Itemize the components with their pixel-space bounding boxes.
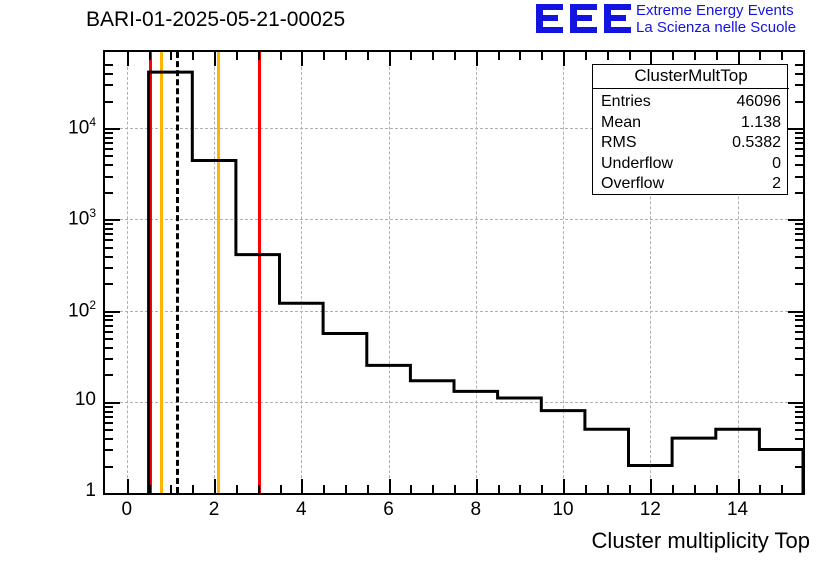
x-minor-tick <box>170 485 172 493</box>
x-minor-tick <box>803 485 805 493</box>
stats-row-value: 2 <box>772 174 781 195</box>
y-major-tick-right <box>788 128 803 130</box>
stats-row-key: RMS <box>601 133 637 154</box>
x-major-tick <box>738 479 740 493</box>
x-minor-tick-top <box>367 52 369 60</box>
y-tick-label: 10 <box>36 389 96 411</box>
y-minor-tick <box>105 406 113 408</box>
x-minor-tick <box>541 485 543 493</box>
x-minor-tick <box>345 485 347 493</box>
y-minor-tick-right <box>795 137 803 139</box>
eee-logo-text: Extreme Energy Events La Scienza nelle S… <box>636 2 796 36</box>
x-minor-tick <box>629 485 631 493</box>
x-minor-tick-top <box>672 52 674 60</box>
y-tick-label: 102 <box>36 298 96 322</box>
x-minor-tick-top <box>498 52 500 60</box>
y-minor-tick-right <box>795 228 803 230</box>
y-minor-tick <box>105 142 113 144</box>
x-tick-label: 6 <box>369 499 409 521</box>
y-major-tick <box>105 219 120 221</box>
stats-row-key: Mean <box>601 113 641 134</box>
page-title: BARI-01-2025-05-21-00025 <box>86 8 345 32</box>
y-minor-tick-right <box>795 449 803 451</box>
stats-row-value: 46096 <box>737 92 782 113</box>
y-minor-tick <box>105 101 113 103</box>
x-minor-tick <box>258 485 260 493</box>
y-minor-tick-right <box>795 374 803 376</box>
y-minor-tick-right <box>795 416 803 418</box>
x-major-tick <box>563 479 565 493</box>
y-minor-tick-right <box>795 247 803 249</box>
x-minor-tick <box>454 485 456 493</box>
x-major-tick <box>214 479 216 493</box>
y-tick-label: 104 <box>36 115 96 139</box>
y-minor-tick <box>105 73 113 75</box>
x-major-tick-top <box>127 52 129 66</box>
y-minor-tick-right <box>795 148 803 150</box>
x-minor-tick <box>716 485 718 493</box>
y-minor-tick-right <box>795 101 803 103</box>
x-minor-tick-top <box>519 52 521 60</box>
x-major-tick <box>127 479 129 493</box>
y-minor-tick-right <box>795 325 803 327</box>
x-minor-tick <box>607 485 609 493</box>
x-major-tick-top <box>214 52 216 66</box>
stats-row-key: Overflow <box>601 174 664 195</box>
y-minor-tick <box>105 137 113 139</box>
y-minor-tick-right <box>795 73 803 75</box>
y-minor-tick <box>105 411 113 413</box>
y-minor-tick-right <box>795 267 803 269</box>
x-minor-tick <box>498 485 500 493</box>
stats-rows: Entries46096Mean1.138RMS0.5382Underflow0… <box>593 92 789 195</box>
x-minor-tick <box>280 485 282 493</box>
x-minor-tick-top <box>759 52 761 60</box>
y-minor-tick <box>105 84 113 86</box>
y-tick-label: 103 <box>36 206 96 230</box>
y-minor-tick <box>105 164 113 166</box>
eee-logo-line2: La Scienza nelle Scuole <box>636 19 796 36</box>
x-minor-tick <box>236 485 238 493</box>
stats-row-key: Underflow <box>601 154 673 175</box>
y-minor-tick <box>105 422 113 424</box>
x-minor-tick <box>323 485 325 493</box>
x-minor-tick <box>367 485 369 493</box>
x-minor-tick <box>410 485 412 493</box>
x-minor-tick-top <box>781 52 783 60</box>
x-minor-tick <box>149 485 151 493</box>
y-minor-tick <box>105 331 113 333</box>
y-minor-tick <box>105 438 113 440</box>
x-minor-tick-top <box>454 52 456 60</box>
y-minor-tick-right <box>795 422 803 424</box>
x-minor-tick <box>672 485 674 493</box>
stats-row: RMS0.5382 <box>601 133 781 154</box>
stats-row: Entries46096 <box>601 92 781 113</box>
x-tick-label: 0 <box>107 499 147 521</box>
x-minor-tick <box>585 485 587 493</box>
y-minor-tick-right <box>795 233 803 235</box>
y-minor-tick-right <box>795 132 803 134</box>
y-minor-tick <box>105 233 113 235</box>
x-minor-tick <box>192 485 194 493</box>
y-minor-tick-right <box>795 319 803 321</box>
y-minor-tick <box>105 256 113 258</box>
y-minor-tick <box>105 358 113 360</box>
y-minor-tick <box>105 267 113 269</box>
x-axis-title: Cluster multiplicity Top <box>592 528 810 554</box>
y-minor-tick-right <box>795 223 803 225</box>
x-major-tick <box>476 479 478 493</box>
x-tick-label: 4 <box>281 499 321 521</box>
y-minor-tick <box>105 416 113 418</box>
stats-row-value: 1.138 <box>741 113 781 134</box>
y-minor-tick <box>105 176 113 178</box>
y-minor-tick <box>105 319 113 321</box>
x-minor-tick <box>781 485 783 493</box>
y-minor-tick-right <box>795 142 803 144</box>
y-minor-tick-right <box>795 256 803 258</box>
y-minor-tick-right <box>795 347 803 349</box>
y-minor-tick-right <box>795 84 803 86</box>
y-minor-tick <box>105 347 113 349</box>
stats-row: Overflow2 <box>601 174 781 195</box>
y-minor-tick <box>105 155 113 157</box>
x-minor-tick-top <box>192 52 194 60</box>
x-minor-tick-top <box>607 52 609 60</box>
x-tick-label: 12 <box>630 499 670 521</box>
x-minor-tick-top <box>236 52 238 60</box>
x-minor-tick <box>759 485 761 493</box>
x-minor-tick-top <box>258 52 260 60</box>
x-major-tick-top <box>389 52 391 66</box>
y-major-tick-right <box>788 493 803 495</box>
stats-row-value: 0 <box>772 154 781 175</box>
stats-row: Underflow0 <box>601 154 781 175</box>
x-minor-tick-top <box>149 52 151 60</box>
y-major-tick-right <box>788 402 803 404</box>
x-minor-tick-top <box>323 52 325 60</box>
y-minor-tick <box>105 228 113 230</box>
y-minor-tick-right <box>795 283 803 285</box>
x-minor-tick-top <box>694 52 696 60</box>
x-minor-tick-top <box>410 52 412 60</box>
y-minor-tick-right <box>795 466 803 468</box>
y-minor-tick-right <box>795 338 803 340</box>
y-minor-tick <box>105 64 113 66</box>
y-tick-label: 1 <box>36 480 96 502</box>
y-minor-tick <box>105 429 113 431</box>
x-minor-tick-top <box>629 52 631 60</box>
x-minor-tick-top <box>280 52 282 60</box>
x-major-tick <box>301 479 303 493</box>
eee-logo: Extreme Energy Events La Scienza nelle S… <box>536 2 832 38</box>
y-minor-tick <box>105 449 113 451</box>
y-major-tick <box>105 493 120 495</box>
x-minor-tick <box>694 485 696 493</box>
x-major-tick <box>389 479 391 493</box>
y-major-tick-right <box>788 219 803 221</box>
y-minor-tick-right <box>795 411 803 413</box>
y-minor-tick <box>105 466 113 468</box>
y-minor-tick <box>105 239 113 241</box>
y-minor-tick <box>105 132 113 134</box>
x-minor-tick-top <box>541 52 543 60</box>
y-minor-tick-right <box>795 438 803 440</box>
y-minor-tick-right <box>795 164 803 166</box>
stats-row: Mean1.138 <box>601 113 781 134</box>
stats-row-key: Entries <box>601 92 651 113</box>
y-minor-tick-right <box>795 331 803 333</box>
x-minor-tick-top <box>716 52 718 60</box>
y-minor-tick <box>105 223 113 225</box>
statistics-box: ClusterMultTop Entries46096Mean1.138RMS0… <box>592 64 788 195</box>
y-minor-tick <box>105 315 113 317</box>
x-minor-tick <box>432 485 434 493</box>
root-canvas: BARI-01-2025-05-21-00025 Extreme Energy … <box>0 0 836 572</box>
x-tick-label: 8 <box>456 499 496 521</box>
y-minor-tick <box>105 192 113 194</box>
y-minor-tick <box>105 325 113 327</box>
y-minor-tick-right <box>795 176 803 178</box>
eee-logo-line1: Extreme Energy Events <box>636 2 796 19</box>
y-major-tick <box>105 402 120 404</box>
y-minor-tick-right <box>795 315 803 317</box>
y-minor-tick-right <box>795 358 803 360</box>
x-tick-label: 14 <box>718 499 758 521</box>
x-major-tick-top <box>476 52 478 66</box>
eee-logo-mark <box>536 3 632 35</box>
y-minor-tick <box>105 374 113 376</box>
x-major-tick <box>650 479 652 493</box>
y-minor-tick <box>105 247 113 249</box>
y-major-tick <box>105 311 120 313</box>
y-minor-tick-right <box>795 64 803 66</box>
y-minor-tick-right <box>795 239 803 241</box>
x-minor-tick <box>519 485 521 493</box>
x-major-tick-top <box>563 52 565 66</box>
y-minor-tick-right <box>795 192 803 194</box>
y-minor-tick-right <box>795 155 803 157</box>
x-minor-tick-top <box>803 52 805 60</box>
x-major-tick-top <box>301 52 303 66</box>
y-minor-tick-right <box>795 406 803 408</box>
x-tick-label: 2 <box>194 499 234 521</box>
x-minor-tick-top <box>345 52 347 60</box>
x-minor-tick-top <box>585 52 587 60</box>
y-minor-tick <box>105 283 113 285</box>
x-minor-tick-top <box>432 52 434 60</box>
y-major-tick <box>105 128 120 130</box>
y-minor-tick-right <box>795 429 803 431</box>
x-tick-label: 10 <box>543 499 583 521</box>
stats-title: ClusterMultTop <box>593 66 789 89</box>
stats-row-value: 0.5382 <box>732 133 781 154</box>
x-minor-tick-top <box>170 52 172 60</box>
y-major-tick-right <box>788 311 803 313</box>
y-minor-tick <box>105 148 113 150</box>
y-minor-tick <box>105 338 113 340</box>
